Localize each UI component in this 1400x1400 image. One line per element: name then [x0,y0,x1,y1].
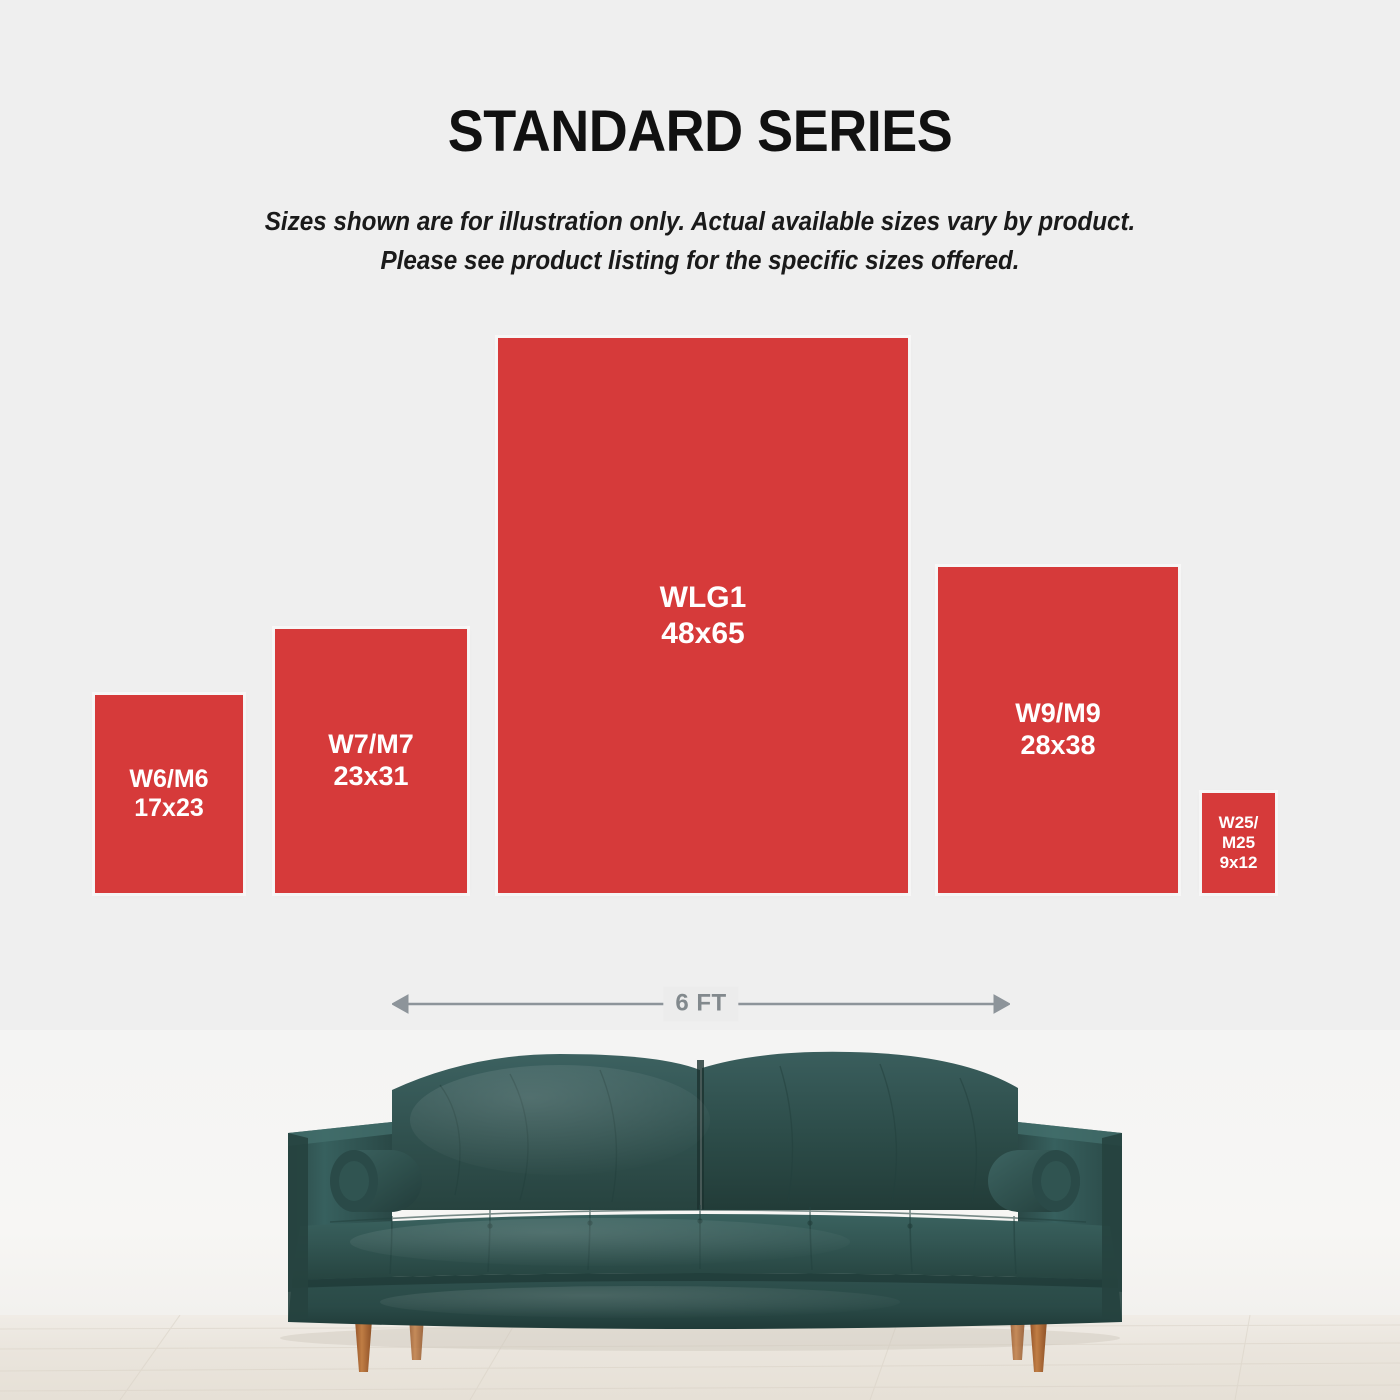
sofa-leg [355,1320,372,1372]
back-cushion-right [702,1052,1018,1210]
frame-label-dimensions: 28x38 [1020,730,1095,762]
frame-label-dimensions: 48x65 [661,616,744,651]
sofa-seat-cushion [292,1205,1118,1280]
frame-swatch-w7[interactable]: W7/M7 23x31 [275,629,467,893]
frame-label-name: W25/ M25 [1219,813,1259,853]
frame-swatch-w6[interactable]: W6/M6 17x23 [95,695,243,893]
velvet-sofa [0,1030,1400,1400]
frame-label-name: W9/M9 [1015,698,1101,730]
arrow-left-icon [392,995,408,1013]
frame-size-comparison: W6/M6 17x23 W7/M7 23x31 WLG1 48x65 W9/M9… [0,0,1400,960]
frame-label-dimensions: 23x31 [333,761,408,793]
frame-label-dimensions: 9x12 [1220,853,1258,873]
frame-swatch-w9[interactable]: W9/M9 28x38 [938,567,1178,893]
sofa-back-cushions [392,1052,1018,1210]
room-scene [0,1030,1400,1400]
frame-swatch-w25[interactable]: W25/ M25 9x12 [1202,793,1275,893]
measurement-label: 6 FT [663,987,738,1022]
frame-swatch-wlg1[interactable]: WLG1 48x65 [498,338,908,893]
size-guide-canvas: STANDARD SERIES Sizes shown are for illu… [0,0,1400,1400]
sofa-leg [1030,1320,1047,1372]
width-measurement: 6 FT [392,988,1010,1020]
frame-label-name: WLG1 [660,580,747,615]
frame-label-name: W6/M6 [129,765,208,795]
frame-label-name: W7/M7 [328,729,414,761]
sofa-base [288,1273,1122,1329]
frame-label-dimensions: 17x23 [134,794,204,824]
arrow-right-icon [994,995,1010,1013]
